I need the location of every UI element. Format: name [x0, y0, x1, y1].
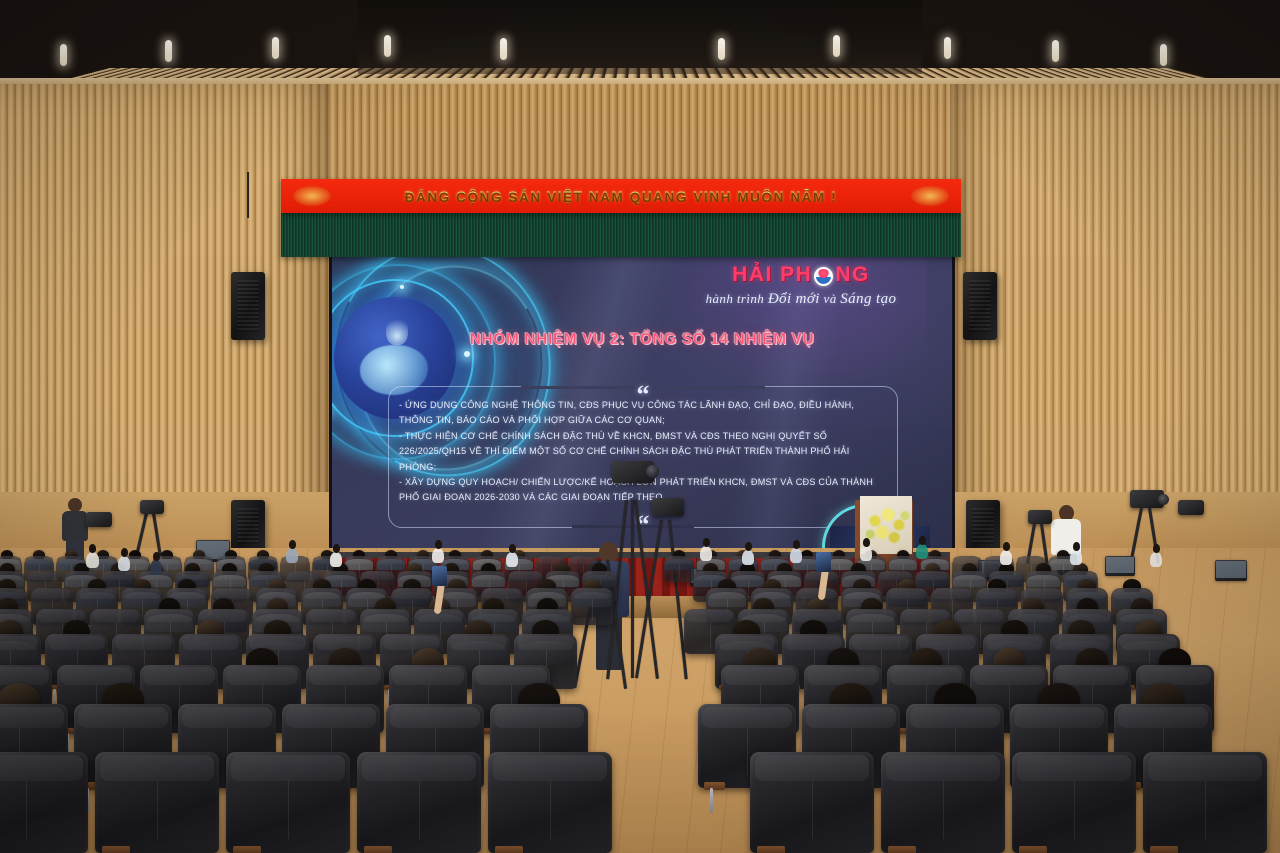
chair-headrest: [933, 589, 972, 599]
chair-headrest: [753, 589, 792, 599]
logo-text-part2: NG: [835, 263, 870, 287]
back-row-attendee-head: [153, 552, 160, 560]
camera-lens-icon: [1158, 494, 1169, 505]
chair-headrest: [731, 572, 763, 580]
chair-headrest: [176, 572, 208, 580]
chair-headrest: [143, 667, 215, 685]
logo-wordmark: HẢI PH NG: [676, 263, 926, 287]
chair-headrest: [483, 589, 522, 599]
tagline-mid: và: [820, 291, 840, 306]
chair-headrest: [1148, 755, 1262, 781]
chair-armrest: [888, 846, 915, 853]
chair-headrest: [362, 610, 409, 622]
left-wall-speaker: [231, 272, 265, 340]
back-row-attendee: [790, 548, 802, 563]
table-monitor: [1105, 556, 1135, 576]
chair-headrest: [0, 589, 26, 599]
chair-headrest: [78, 707, 168, 729]
back-row-attendee: [1000, 550, 1012, 565]
back-row-attendee: [150, 560, 162, 575]
chair-headrest: [573, 589, 612, 599]
audience-chair: [0, 752, 88, 853]
chair-headrest: [569, 557, 597, 564]
back-row-attendee-head: [1003, 542, 1010, 550]
ceiling-light: [833, 35, 840, 57]
chair-headrest: [0, 755, 83, 781]
camera-left-2: [140, 500, 164, 514]
chair-headrest: [1023, 589, 1062, 599]
haiphong-logo: HẢI PH NG hành trình Đổi mới và Sáng tạo: [676, 263, 926, 308]
camera-lens-icon: [646, 465, 659, 478]
chair-headrest: [1139, 667, 1211, 685]
chair-headrest: [886, 755, 1000, 781]
chair-headrest: [60, 667, 132, 685]
chair-headrest: [694, 572, 726, 580]
banner-text: ĐẢNG CỘNG SẢN VIỆT NAM QUANG VINH MUÔN N…: [405, 189, 838, 204]
chair-headrest: [182, 707, 272, 729]
chair-headrest: [345, 557, 373, 564]
ceiling-light: [272, 37, 279, 59]
chair-headrest: [450, 636, 508, 650]
chair-headrest: [231, 755, 345, 781]
chair-headrest: [916, 572, 948, 580]
audience-chair: [357, 752, 481, 853]
chair-headrest: [1113, 589, 1152, 599]
back-row-attendee-head: [509, 544, 516, 552]
chair-headrest: [78, 589, 117, 599]
back-row-attendee-head: [333, 544, 340, 552]
banner-red-panel: ĐẢNG CỘNG SẢN VIỆT NAM QUANG VINH MUÔN N…: [281, 179, 961, 213]
ceiling-light: [1160, 44, 1167, 66]
back-row-attendee: [330, 552, 342, 567]
monitor-screen: [1216, 561, 1246, 578]
chair-headrest: [708, 589, 747, 599]
chair-headrest: [1027, 572, 1059, 580]
chair-headrest: [28, 572, 60, 580]
chair-headrest: [718, 636, 776, 650]
chair-headrest: [286, 707, 376, 729]
chair-headrest: [393, 589, 432, 599]
tripod-leg: [631, 500, 634, 678]
chair-headrest: [146, 610, 193, 622]
ceiling-light: [384, 35, 391, 57]
chair-headrest: [303, 589, 342, 599]
chair-headrest: [324, 572, 356, 580]
chair-armrest: [364, 846, 391, 853]
tagline-word-doimoi: Đổi mới: [768, 291, 820, 307]
camera-left: [86, 512, 112, 527]
camera-right-3: [1178, 500, 1204, 515]
back-row-attendee-head: [793, 540, 800, 548]
chair-armrest: [495, 846, 522, 853]
table-monitor: [1215, 560, 1247, 581]
slogan-banner: ĐẢNG CỘNG SẢN VIỆT NAM QUANG VINH MUÔN N…: [281, 179, 961, 257]
chair-headrest: [100, 755, 214, 781]
back-row-attendee-head: [919, 536, 926, 544]
chair-headrest: [509, 572, 541, 580]
camera-center-2: [652, 498, 684, 516]
chair-headrest: [1017, 755, 1131, 781]
chair-headrest: [686, 610, 733, 622]
chair-headrest: [102, 572, 134, 580]
chair-headrest: [755, 755, 869, 781]
chair-headrest: [362, 755, 476, 781]
chair-headrest: [377, 557, 405, 564]
chair-headrest: [978, 589, 1017, 599]
chair-headrest: [115, 636, 173, 650]
back-row-attendee-head: [1073, 542, 1080, 550]
ceiling-light: [165, 40, 172, 62]
chair-headrest: [785, 636, 843, 650]
left-wall-speaker-lower: [231, 500, 265, 552]
chair-headrest: [494, 707, 584, 729]
audience-chair: [1143, 752, 1267, 853]
audience-chair: [488, 752, 612, 853]
chair-headrest: [1064, 572, 1096, 580]
tagline-prefix: hành trình: [706, 291, 768, 306]
back-row-attendee: [1150, 552, 1162, 567]
slide-body-text: - ỨNG DỤNG CÔNG NGHỆ THÔNG TIN, CĐS PHỤC…: [399, 398, 887, 506]
monitor-screen: [1106, 557, 1134, 573]
orbit-spark: [464, 351, 470, 357]
banner-ornament-right-icon: [911, 186, 949, 206]
chair-headrest: [493, 755, 607, 781]
haiphong-emblem-icon: [814, 267, 833, 286]
ceiling-light: [1052, 40, 1059, 62]
chair-armrest: [233, 846, 260, 853]
back-row-attendee: [86, 552, 99, 568]
back-row-attendee: [860, 546, 872, 561]
chair-headrest: [973, 667, 1045, 685]
chair-headrest: [390, 707, 480, 729]
slide-content-box: “ - ỨNG DỤNG CÔNG NGHỆ THÔNG TIN, CĐS PH…: [388, 386, 898, 528]
operator-torso: [62, 511, 88, 541]
back-row-attendee-head: [89, 544, 97, 553]
back-row-attendee: [1070, 550, 1082, 565]
slide-body-line: - ỨNG DỤNG CÔNG NGHỆ THÔNG TIN, CĐS PHỤC…: [399, 398, 887, 429]
audience-chair: [881, 752, 1005, 853]
chair-headrest: [123, 589, 162, 599]
back-row-attendee: [118, 556, 130, 571]
chair-headrest: [986, 636, 1044, 650]
left-wall: [0, 84, 330, 554]
chair-headrest: [168, 589, 207, 599]
chair-headrest: [665, 557, 693, 564]
back-row-attendee: [506, 552, 518, 567]
chair-headrest: [517, 636, 575, 650]
audience-chair: [1012, 752, 1136, 853]
chair-armrest: [1019, 846, 1046, 853]
chair-headrest: [308, 610, 355, 622]
attendee-phone: [816, 552, 831, 572]
chair-headrest: [472, 572, 504, 580]
chair-headrest: [843, 589, 882, 599]
audience-chair: [95, 752, 219, 853]
chair-leg: [710, 788, 713, 813]
chair-headrest: [546, 572, 578, 580]
chair-headrest: [309, 667, 381, 685]
camera-right-1: [1028, 510, 1052, 524]
chair-headrest: [0, 707, 64, 729]
chair-headrest: [953, 572, 985, 580]
chair-headrest: [848, 610, 895, 622]
chair-headrest: [226, 667, 298, 685]
chair-headrest: [806, 707, 896, 729]
chair-headrest: [807, 667, 879, 685]
chair-headrest: [1053, 636, 1111, 650]
ceiling: [0, 0, 1280, 86]
orbit-spark: [400, 285, 404, 289]
back-row-attendee: [286, 548, 298, 563]
banner-ornament-left-icon: [293, 186, 331, 206]
chair-headrest: [956, 610, 1003, 622]
conference-hall-photo: HẢI PH NG hành trình Đổi mới và Sáng tạo…: [0, 0, 1280, 853]
audience-chair: [664, 556, 694, 582]
chair-armrest: [757, 846, 784, 853]
chair-headrest: [48, 636, 106, 650]
logo-tagline: hành trình Đổi mới và Sáng tạo: [676, 291, 926, 308]
chair-headrest: [0, 636, 38, 650]
back-row-attendee: [916, 544, 928, 559]
audience-chair: [750, 752, 874, 853]
chair-headrest: [92, 610, 139, 622]
speaker-mount-rod: [247, 172, 249, 218]
back-row-attendee-head: [703, 538, 710, 546]
chair-headrest: [890, 667, 962, 685]
chair-headrest: [0, 667, 49, 685]
ceiling-light: [944, 37, 951, 59]
right-wall-speaker-lower: [966, 500, 1000, 552]
chair-headrest: [287, 572, 319, 580]
ceiling-light: [718, 38, 725, 60]
chair-headrest: [724, 667, 796, 685]
tagline-word-sangtao: Sáng tạo: [840, 291, 896, 307]
slide-title: NHÓM NHIỆM VỤ 2: TỔNG SỐ 14 NHIỆM VỤ: [332, 331, 952, 349]
attendee-phone: [432, 566, 447, 586]
back-row-attendee: [432, 548, 444, 563]
chair-armrest: [102, 846, 129, 853]
chair-headrest: [392, 667, 464, 685]
chair-headrest: [475, 667, 547, 685]
logo-text-part1: HẢI PH: [732, 263, 812, 287]
chair-armrest: [704, 782, 726, 790]
ceiling-light: [60, 44, 67, 66]
back-row-attendee-head: [863, 538, 870, 546]
audience-chair: [571, 588, 613, 625]
chair-headrest: [33, 589, 72, 599]
right-wall: [950, 84, 1280, 554]
chair-headrest: [889, 557, 917, 564]
chair-headrest: [1118, 707, 1208, 729]
back-row-attendee-head: [121, 548, 128, 556]
ceiling-light: [500, 38, 507, 60]
chair-headrest: [910, 707, 1000, 729]
chair-headrest: [852, 636, 910, 650]
back-row-attendee: [700, 546, 712, 561]
back-row-attendee: [742, 550, 754, 565]
operator-head: [68, 498, 82, 512]
chair-headrest: [1014, 707, 1104, 729]
chair-headrest: [348, 589, 387, 599]
chair-headrest: [182, 636, 240, 650]
audience-chair: [226, 752, 350, 853]
chair-headrest: [213, 572, 245, 580]
back-row-attendee-head: [745, 542, 752, 550]
banner-green-fringe: [281, 213, 961, 257]
right-wall-speaker: [963, 272, 997, 340]
back-row-attendee-head: [1153, 544, 1160, 552]
chair-headrest: [25, 557, 53, 564]
chair-headrest: [702, 707, 792, 729]
chair-headrest: [1056, 667, 1128, 685]
chair-headrest: [213, 589, 252, 599]
back-row-attendee-head: [289, 540, 296, 548]
chair-headrest: [888, 589, 927, 599]
chair-headrest: [441, 557, 469, 564]
chair-armrest: [1150, 846, 1177, 853]
back-row-attendee-head: [435, 540, 442, 548]
